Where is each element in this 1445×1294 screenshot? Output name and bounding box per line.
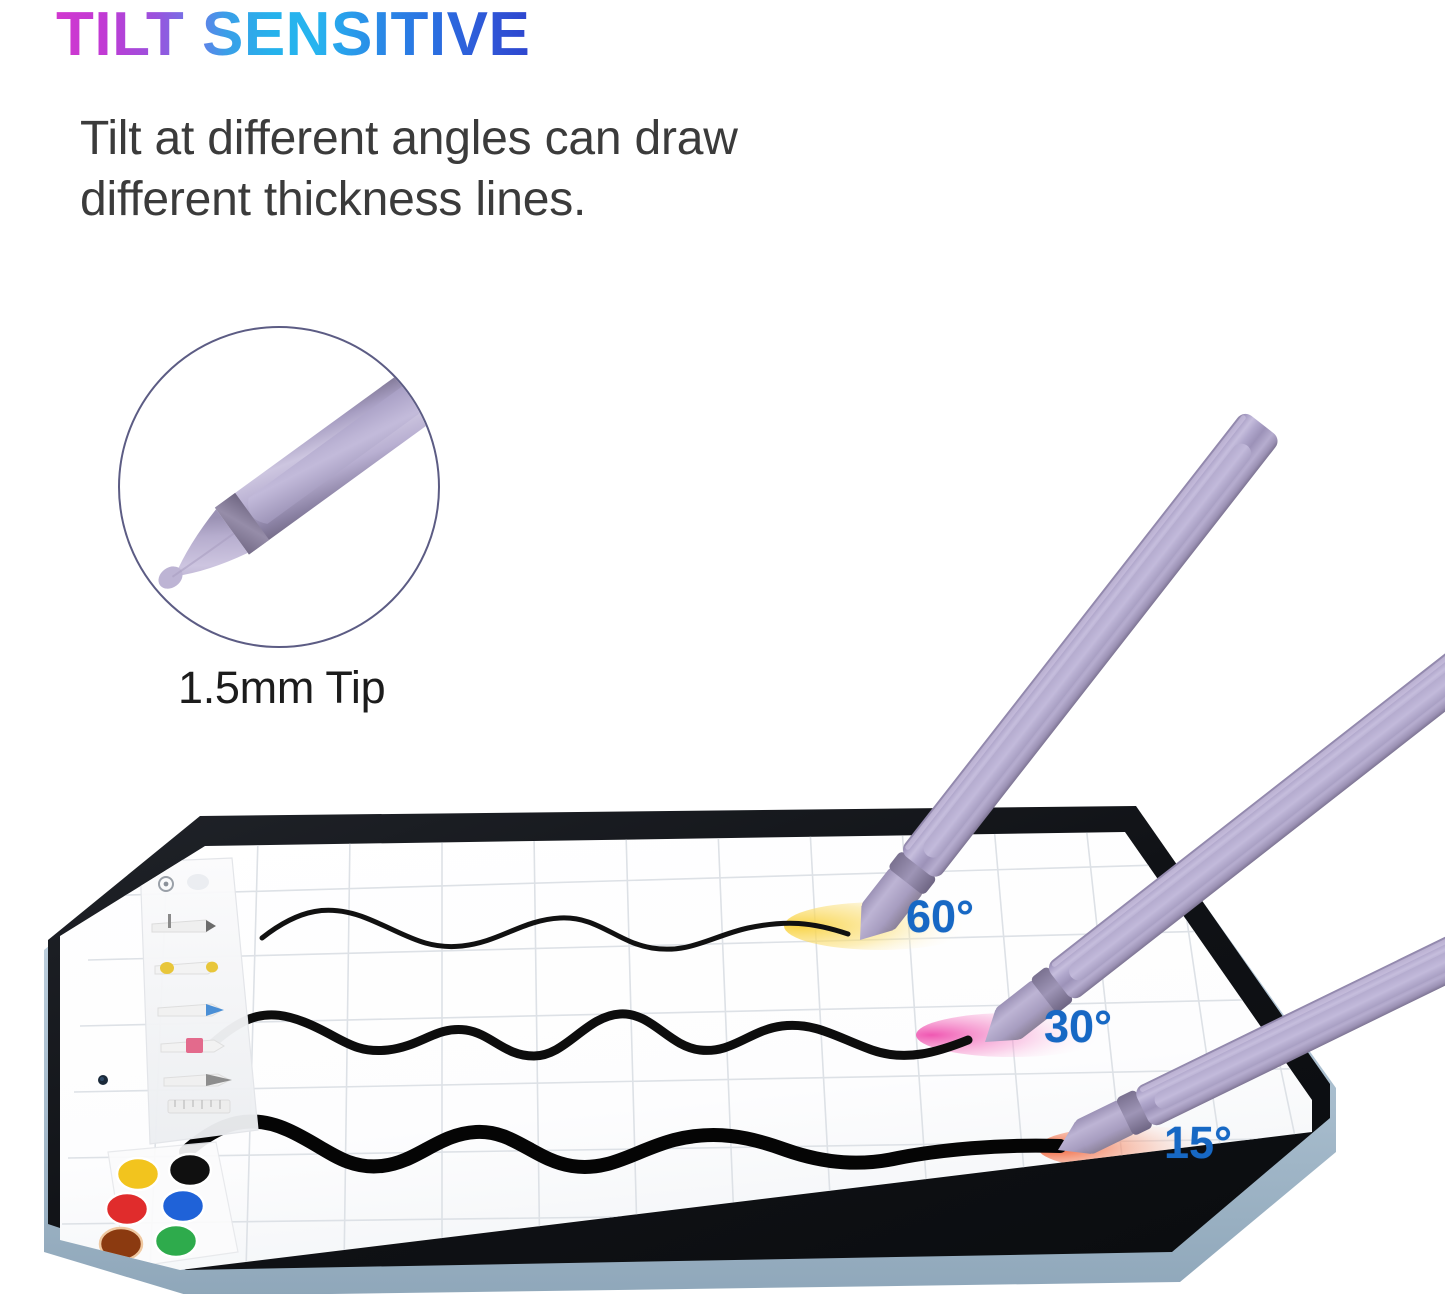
angle-label-15: 15° — [1164, 1117, 1232, 1169]
front-camera-lens — [100, 1077, 104, 1081]
closeup-clip-region — [120, 328, 438, 646]
swatch-black[interactable] — [169, 1154, 211, 1186]
tablet-illustration — [0, 800, 1340, 1294]
gear-center-dot — [164, 882, 169, 887]
angle-label-60: 60° — [906, 891, 974, 943]
product-feature-slide: TILT SENSITIVE Tilt at different angles … — [0, 0, 1445, 1294]
toolbar-item-marker-tool[interactable] — [155, 962, 218, 974]
stylus-60-flat-face — [919, 440, 1255, 862]
toolbar-item-ruler-tool[interactable] — [168, 1100, 230, 1113]
swatch-green[interactable] — [155, 1225, 197, 1257]
tip-size-caption: 1.5mm Tip — [178, 662, 385, 714]
angle-label-30: 30° — [1044, 1001, 1112, 1053]
swatch-red[interactable] — [106, 1193, 148, 1225]
swatch-yellow[interactable] — [117, 1158, 159, 1190]
page-title: TILT SENSITIVE — [56, 2, 530, 67]
page-subtitle-line-2: different thickness lines. — [80, 169, 1060, 230]
closeup-tip-illustration — [120, 328, 438, 646]
page-subtitle-line-1: Tilt at different angles can draw — [80, 108, 1060, 169]
stylus-60-highlight — [904, 414, 1247, 850]
blur-tool-icon[interactable] — [187, 874, 209, 890]
swatch-blue[interactable] — [162, 1190, 204, 1222]
stylus-tip-closeup — [118, 326, 440, 648]
page-subtitle: Tilt at different angles can draw differ… — [80, 108, 1060, 231]
tablet-device — [0, 800, 1340, 1294]
